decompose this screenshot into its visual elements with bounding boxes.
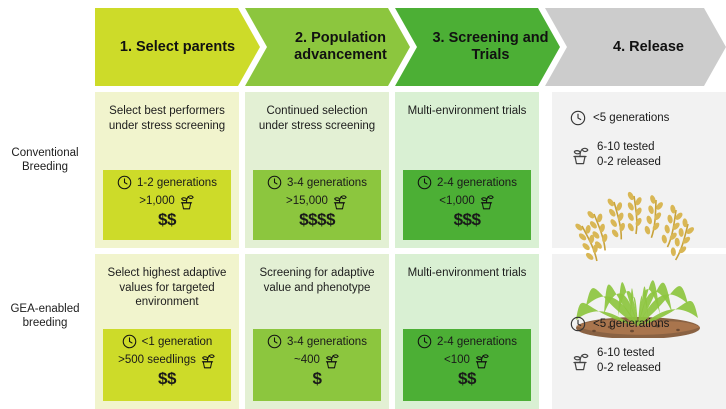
metric-block: 1-2 generations>1,000$$ [103, 170, 231, 240]
stage-header-label: 4. Release [607, 39, 690, 56]
stage-header-label: 2. Population advancement [271, 30, 410, 64]
cell-description: Screening for adaptive value and phenoty… [245, 254, 389, 295]
stage-header-label: 1. Select parents [114, 39, 241, 56]
clock-icon [117, 175, 132, 190]
potted-seedling-icon [570, 145, 590, 165]
cell-gea-screening-and-trials[interactable]: Multi-environment trials2-4 generations<… [395, 254, 539, 409]
tested-released-line: 6-10 tested0-2 released [570, 140, 669, 170]
cost-indicator: $$$$ [261, 210, 373, 229]
potted-seedling-icon [178, 193, 195, 210]
cost-indicator: $ [261, 369, 373, 388]
generations-line: <1 generation [111, 334, 223, 349]
population-count-line: ~400 [261, 352, 373, 369]
potted-seedling-icon [199, 352, 216, 369]
cost-indicator: $$$ [411, 210, 523, 229]
cell-conventional-select-parents[interactable]: Select best performers under stress scre… [95, 92, 239, 248]
metric-block: 2-4 generations<1,000$$$ [403, 170, 531, 240]
release-cell-content: <5 generations6-10 tested0-2 released [552, 254, 726, 409]
row-label-line1: Conventional [0, 146, 90, 160]
metric-block: 3-4 generations>15,000$$$$ [253, 170, 381, 240]
row-label-conventional-breeding: Conventional Breeding [0, 146, 90, 174]
generations-value: <5 generations [593, 111, 669, 125]
potted-seedling-icon [331, 193, 348, 210]
potted-seedling-icon [323, 352, 340, 369]
cell-conventional-release[interactable]: <5 generations6-10 tested0-2 released [552, 92, 726, 248]
clock-icon [417, 175, 432, 190]
generations-line: <5 generations [570, 110, 669, 126]
cell-gea-population-advancement[interactable]: Screening for adaptive value and phenoty… [245, 254, 389, 409]
generations-value: 3-4 generations [287, 335, 367, 349]
generations-line: 3-4 generations [261, 334, 373, 349]
clock-icon [267, 175, 282, 190]
released-value: 0-2 released [597, 155, 661, 170]
cell-description: Select highest adaptive values for targe… [95, 254, 239, 310]
generations-value: 2-4 generations [437, 335, 517, 349]
population-count-line: <100 [411, 352, 523, 369]
population-count-value: <100 [444, 353, 470, 368]
generations-line: 3-4 generations [261, 175, 373, 190]
row-label-gea-enabled-breeding: GEA-enabled breeding [0, 302, 90, 330]
cell-description: Select best performers under stress scre… [95, 92, 239, 133]
row-label-line2: breeding [0, 316, 90, 330]
generations-line: 2-4 generations [411, 175, 523, 190]
clock-icon [570, 110, 586, 126]
generations-value: <1 generation [142, 335, 213, 349]
metric-block: 3-4 generations~400$ [253, 329, 381, 401]
population-count-line: >500 seedlings [111, 352, 223, 369]
metric-block: 2-4 generations<100$$ [403, 329, 531, 401]
cell-description: Multi-environment trials [395, 254, 539, 281]
released-value: 0-2 released [597, 361, 661, 376]
generations-line: 1-2 generations [111, 175, 223, 190]
generations-value: 3-4 generations [287, 176, 367, 190]
tested-value: 6-10 tested [597, 140, 655, 155]
stage-header-population-advancement[interactable]: 2. Population advancement [245, 8, 410, 86]
cell-conventional-population-advancement[interactable]: Continued selection under stress screeni… [245, 92, 389, 248]
cost-indicator: $$ [111, 210, 223, 229]
population-count-line: >15,000 [261, 193, 373, 210]
population-count-line: >1,000 [111, 193, 223, 210]
population-count-value: <1,000 [439, 194, 475, 209]
release-cell-content: <5 generations6-10 tested0-2 released [552, 92, 726, 248]
generations-value: 2-4 generations [437, 176, 517, 190]
population-count-value: ~400 [294, 353, 320, 368]
potted-seedling-icon [478, 193, 495, 210]
cell-description: Continued selection under stress screeni… [245, 92, 389, 133]
cost-indicator: $$ [111, 369, 223, 388]
cell-gea-release[interactable]: <5 generations6-10 tested0-2 released [552, 254, 726, 409]
population-count-line: <1,000 [411, 193, 523, 210]
clock-icon [417, 334, 432, 349]
stage-header-select-parents[interactable]: 1. Select parents [95, 8, 260, 86]
breeding-pipeline-diagram: Conventional Breeding GEA-enabled breedi… [0, 0, 726, 409]
generations-value: 1-2 generations [137, 176, 217, 190]
population-count-value: >15,000 [286, 194, 328, 209]
potted-seedling-icon [473, 352, 490, 369]
tested-value: 6-10 tested [597, 346, 655, 361]
clock-icon [570, 316, 586, 332]
metric-block: <1 generation>500 seedlings$$ [103, 329, 231, 401]
cell-description: Multi-environment trials [395, 92, 539, 119]
generations-value: <5 generations [593, 317, 669, 331]
tested-released-line: 6-10 tested0-2 released [570, 346, 669, 376]
row-label-line2: Breeding [0, 160, 90, 174]
generations-line: 2-4 generations [411, 334, 523, 349]
potted-seedling-icon [570, 351, 590, 371]
stage-header-label: 3. Screening and Trials [421, 30, 560, 64]
clock-icon [267, 334, 282, 349]
cell-conventional-screening-and-trials[interactable]: Multi-environment trials2-4 generations<… [395, 92, 539, 248]
stage-header-band: 1. Select parents2. Population advanceme… [95, 8, 726, 86]
population-count-value: >500 seedlings [118, 353, 196, 368]
generations-line: <5 generations [570, 316, 669, 332]
stage-header-screening-and-trials[interactable]: 3. Screening and Trials [395, 8, 560, 86]
clock-icon [122, 334, 137, 349]
row-label-line1: GEA-enabled [0, 302, 90, 316]
stage-header-release[interactable]: 4. Release [545, 8, 726, 86]
cost-indicator: $$ [411, 369, 523, 388]
population-count-value: >1,000 [139, 194, 175, 209]
cell-gea-select-parents[interactable]: Select highest adaptive values for targe… [95, 254, 239, 409]
